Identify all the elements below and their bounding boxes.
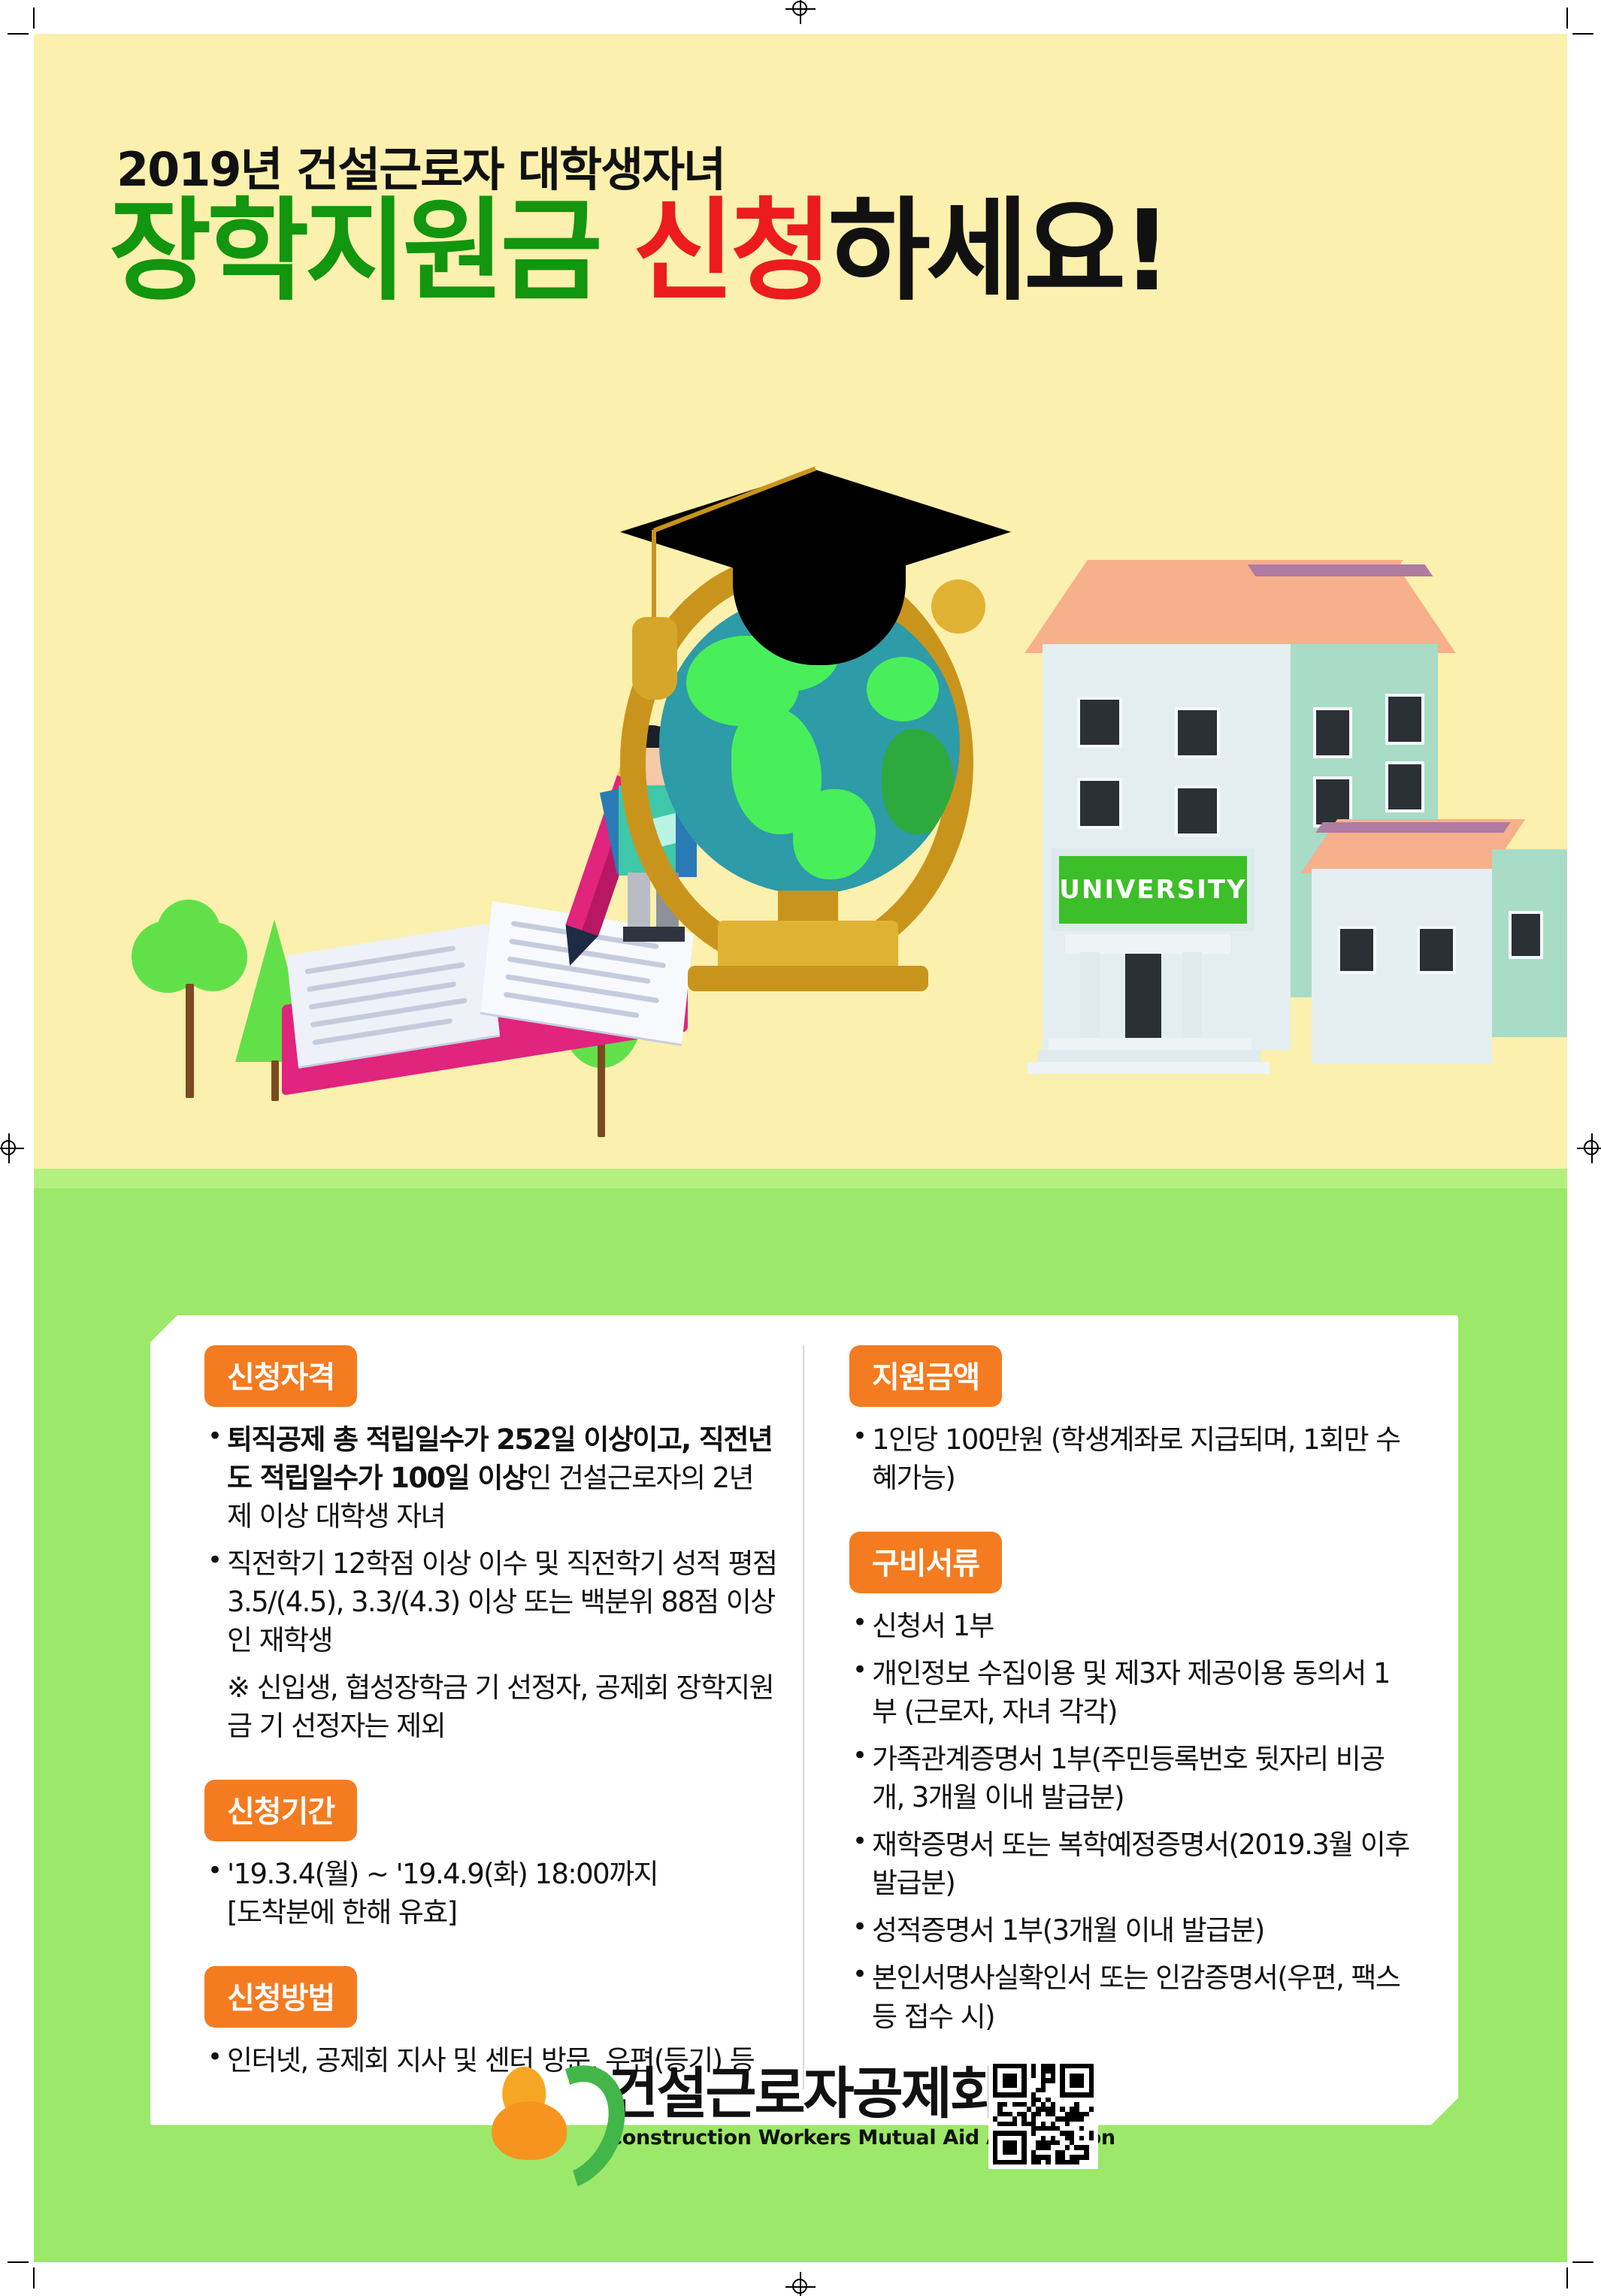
period-line-1: '19.3.4(월) ~ '19.4.9(화) 18:00까지: [227, 1855, 777, 1893]
list-item: 1인당 100만원 (학생계좌로 지급되며, 1회만 수혜가능): [849, 1420, 1410, 1497]
crop-mark-br-h: [1572, 2261, 1593, 2263]
window-icon: [1077, 697, 1122, 748]
globe-icon: [575, 440, 1041, 1116]
window-icon: [1417, 926, 1456, 974]
crop-mark-tl-h: [8, 33, 29, 35]
window-icon: [1385, 694, 1424, 745]
qr-code[interactable]: [988, 2059, 1098, 2169]
crop-mark-tr-v: [1566, 8, 1568, 29]
crop-mark-tr-h: [1572, 33, 1593, 35]
poster-artboard: 2019년 건설근로자 대학생자녀 장학지원금 신청하세요!: [34, 34, 1567, 2262]
poster-footer: 건설근로자공제회 Construction Workers Mutual Aid…: [34, 2055, 1567, 2190]
info-column-right: 지원금액 1인당 100만원 (학생계좌로 지급되며, 1회만 수혜가능) 구비…: [804, 1345, 1458, 2089]
period-list: '19.3.4(월) ~ '19.4.9(화) 18:00까지 [도착분에 한해…: [204, 1855, 777, 1931]
window-icon: [1077, 778, 1122, 829]
list-item: 본인서명사실확인서 또는 인감증명서(우편, 팩스 등 접수 시): [849, 1959, 1410, 2035]
list-item: 신청서 1부: [849, 1607, 1410, 1645]
registration-mark-bottom: [785, 2272, 816, 2296]
period-line-2: [도착분에 한해 유효]: [227, 1893, 777, 1931]
section-title-documents: 구비서류: [849, 1532, 1002, 1593]
list-item: 퇴직공제 총 적립일수가 252일 이상이고, 직전년도 적립일수가 100일 …: [204, 1420, 777, 1535]
qualification-note: ※ 신입생, 협성장학금 기 선정자, 공제회 장학지원금 기 선정자는 제외: [204, 1668, 777, 1745]
window-icon: [1175, 785, 1220, 836]
section-title-period: 신청기간: [204, 1780, 357, 1841]
crop-mark-tl-v: [33, 8, 35, 29]
poster-canvas: 2019년 건설근로자 대학생자녀 장학지원금 신청하세요!: [0, 0, 1601, 2296]
registration-mark-right: [1577, 1133, 1601, 1163]
ground-highlight: [34, 1169, 1567, 1188]
list-item: 직전학기 12학점 이상 이수 및 직전학기 성적 평점 3.5/(4.5), …: [204, 1544, 777, 1659]
university-sign: UNIVERSITY: [1059, 856, 1247, 924]
crop-mark-bl-v: [33, 2267, 35, 2288]
hero-illustration: UNIVERSITY: [34, 259, 1567, 1161]
university-annex-building: [1304, 819, 1567, 1090]
list-item: '19.3.4(월) ~ '19.4.9(화) 18:00까지 [도착분에 한해…: [204, 1855, 777, 1931]
info-column-left: 신청자격 퇴직공제 총 적립일수가 252일 이상이고, 직전년도 적립일수가 …: [150, 1345, 804, 2089]
graduation-cap-icon: [620, 470, 1011, 665]
list-item: 개인정보 수집이용 및 제3자 제공이용 동의서 1부 (근로자, 자녀 각각): [849, 1654, 1410, 1731]
qualification-list: 퇴직공제 총 적립일수가 252일 이상이고, 직전년도 적립일수가 100일 …: [204, 1420, 777, 1745]
qualification-item-1-rest: 직전학기 12학점 이상 이수 및 직전학기 성적 평점 3.5/(4.5), …: [227, 1547, 776, 1656]
logo-mark-icon: [486, 2055, 591, 2160]
amount-list: 1인당 100만원 (학생계좌로 지급되며, 1회만 수혜가능): [849, 1420, 1410, 1497]
list-item: 가족관계증명서 1부(주민등록번호 뒷자리 비공개, 3개월 이내 발급분): [849, 1740, 1410, 1817]
window-icon: [1509, 911, 1543, 959]
documents-list: 신청서 1부 개인정보 수집이용 및 제3자 제공이용 동의서 1부 (근로자,…: [849, 1607, 1410, 2035]
window-icon: [1175, 707, 1220, 758]
list-item: 재학증명서 또는 복학예정증명서(2019.3월 이후 발급분): [849, 1826, 1410, 1902]
section-title-method: 신청방법: [204, 1966, 357, 2028]
window-icon: [1337, 926, 1376, 974]
section-title-amount: 지원금액: [849, 1345, 1002, 1407]
crop-mark-br-v: [1566, 2267, 1568, 2288]
window-icon: [1313, 707, 1352, 758]
crop-mark-bl-h: [8, 2261, 29, 2263]
list-item: 성적증명서 1부(3개월 이내 발급분): [849, 1911, 1410, 1950]
registration-mark-left: [0, 1133, 24, 1163]
section-title-qualification: 신청자격: [204, 1345, 357, 1407]
window-icon: [1385, 761, 1424, 812]
info-card: 신청자격 퇴직공제 총 적립일수가 252일 이상이고, 직전년도 적립일수가 …: [150, 1315, 1458, 2125]
registration-mark-top: [785, 0, 816, 24]
